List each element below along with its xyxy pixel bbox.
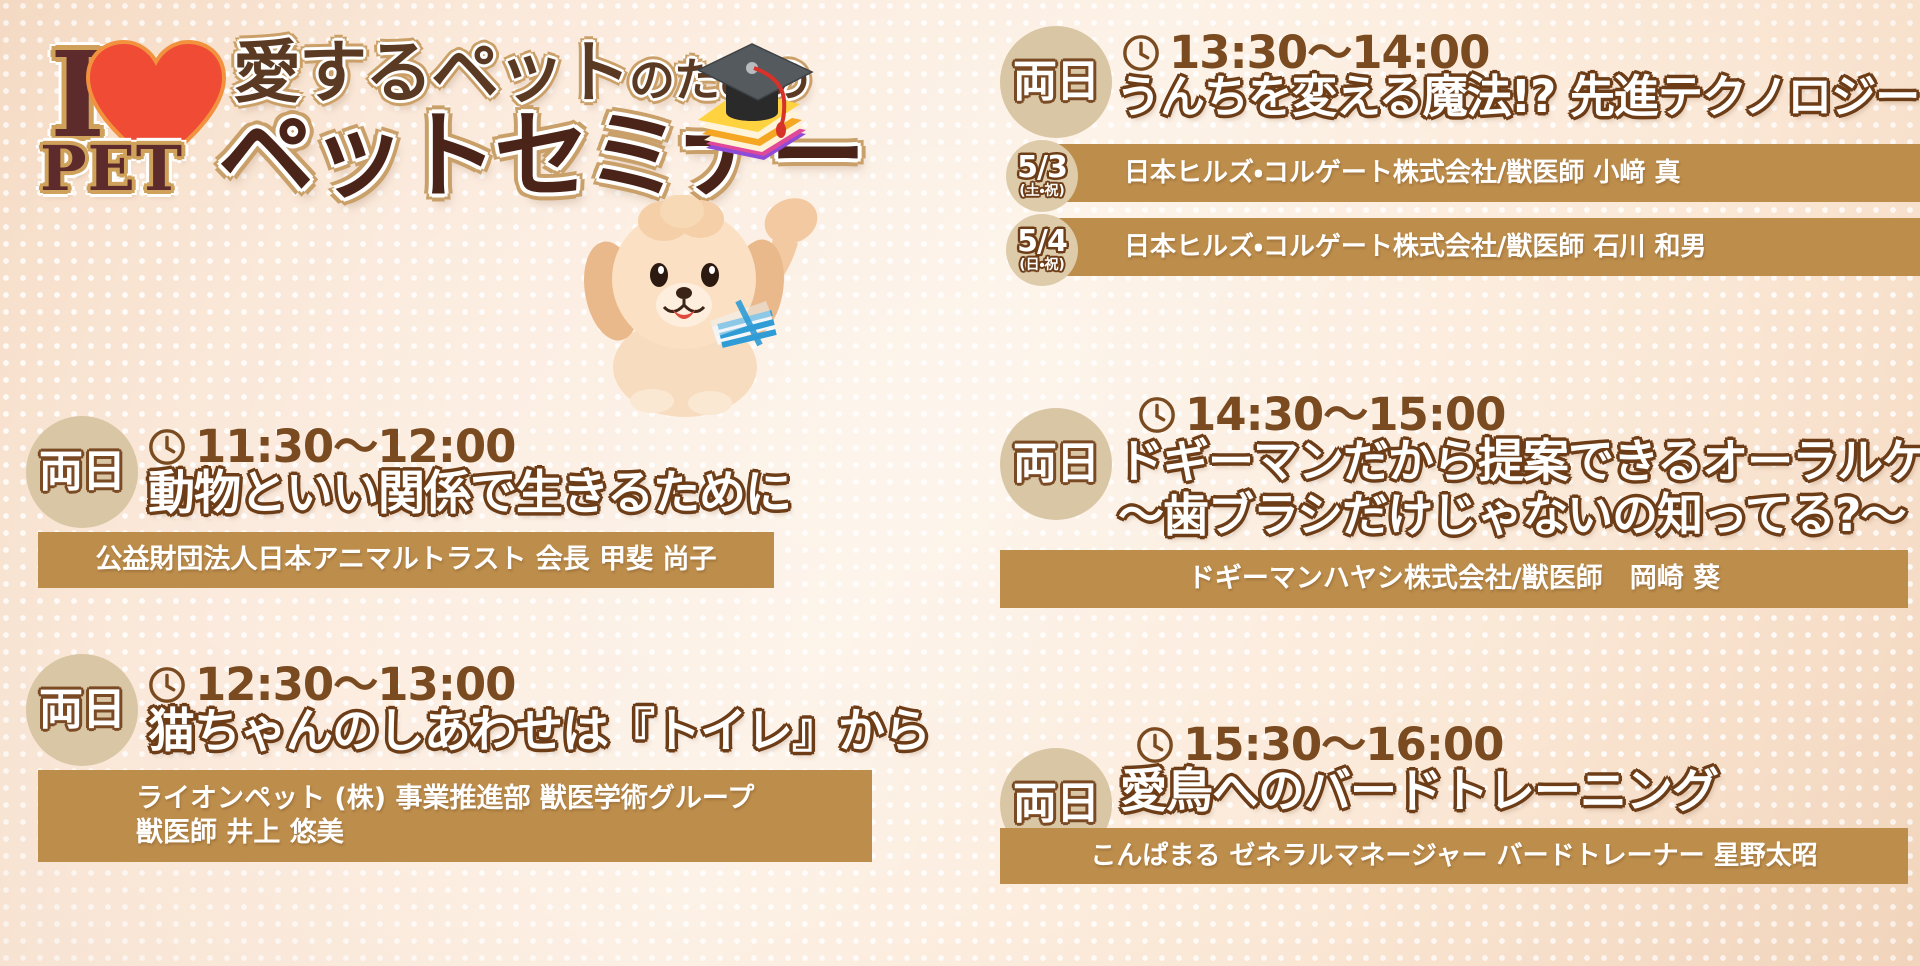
- seminar-title: 愛鳥へのバードトレーニング: [1120, 766, 1718, 819]
- date-badge-date: 5/3: [1017, 154, 1067, 183]
- time-row: 11:30〜12:00: [148, 424, 515, 469]
- day-badge: 両日: [1000, 26, 1112, 138]
- logo-pet-word: PET: [40, 138, 183, 200]
- time-row: 12:30〜13:00: [148, 662, 515, 707]
- date-badge-54: 5/4 (日・祝): [1006, 214, 1078, 286]
- seminar-time: 12:30〜13:00: [195, 662, 515, 707]
- clock-icon: [1122, 34, 1160, 72]
- clock-icon: [1138, 396, 1176, 434]
- time-row: 13:30〜14:00: [1122, 30, 1489, 75]
- day-badge-label: 両日: [39, 450, 125, 494]
- presenter-text: ライオンペット (株) 事業推進部 獣医学術グループ: [136, 782, 754, 816]
- seminar-time: 15:30〜16:00: [1183, 722, 1503, 767]
- date-badge-weekday: (日・祝): [1019, 258, 1065, 272]
- presenter-text: 日本ヒルズ・コルゲート株式会社/獣医師 石川 和男: [1124, 231, 1920, 264]
- day-badge: 両日: [26, 416, 138, 528]
- seminar-time: 13:30〜14:00: [1169, 30, 1489, 75]
- seminar-card-1230[interactable]: 両日 12:30〜13:00 猫ちゃんのしあわせは『トイレ』から ライオンペット…: [26, 650, 786, 810]
- presenter-bar: ドギーマンハヤシ株式会社/獣医師 岡崎 葵: [1000, 550, 1908, 608]
- clock-icon: [148, 428, 186, 466]
- time-row: 14:30〜15:00: [1138, 392, 1505, 437]
- seminar-title: 動物といい関係で生きるために: [148, 468, 791, 521]
- date-badge-53: 5/3 (土・祝): [1006, 140, 1078, 212]
- i-love-pet-logo: I PET: [30, 30, 235, 215]
- presenter-bar: ライオンペット (株) 事業推進部 獣医学術グループ 獣医師 井上 悠美: [38, 770, 872, 862]
- seminar-card-1430[interactable]: 両日 14:30〜15:00 ドギーマンだから提案できるオーラルケア 〜歯ブラシ…: [1000, 392, 1908, 612]
- clock-icon: [148, 666, 186, 704]
- graduation-cap-icon: [678, 30, 828, 180]
- seminar-card-1330[interactable]: 両日 13:30〜14:00 うんちを変える魔法!? 先進テクノロジーとは? 5…: [1000, 22, 1908, 302]
- presenter-bar: 公益財団法人日本アニマルトラスト 会長 甲斐 尚子: [38, 532, 774, 588]
- date-badge-date: 5/4: [1017, 228, 1067, 257]
- presenter-text: 日本ヒルズ・コルゲート株式会社/獣医師 小﨑 真: [1124, 157, 1920, 190]
- poster-background: I PET 愛するペットのための ペットセミナー: [0, 0, 1920, 966]
- date-badge-weekday: (土・祝): [1019, 184, 1065, 198]
- clock-icon: [1136, 726, 1174, 764]
- presenter-bar: 日本ヒルズ・コルゲート株式会社/獣医師 石川 和男: [1046, 218, 1920, 276]
- seminar-title-line-2: 〜歯ブラシだけじゃないの知ってる?〜: [1118, 490, 1905, 542]
- presenter-text: ドギーマンハヤシ株式会社/獣医師 岡崎 葵: [1000, 562, 1908, 596]
- day-badge-label: 両日: [1013, 442, 1099, 486]
- presenter-text: こんぱまる ゼネラルマネージャー バードトレーナー 星野太昭: [1000, 840, 1908, 873]
- seminar-time: 11:30〜12:00: [195, 424, 515, 469]
- day-badge-label: 両日: [39, 688, 125, 732]
- seminar-card-1530[interactable]: 両日 15:30〜16:00 愛鳥へのバードトレーニング こんぱまる ゼネラルマ…: [1000, 722, 1908, 882]
- seminar-title-line-1: ドギーマンだから提案できるオーラルケア: [1118, 436, 1920, 488]
- poster-title-block: I PET 愛するペットのための ペットセミナー: [18, 12, 818, 222]
- day-badge-label: 両日: [1013, 60, 1099, 104]
- seminar-card-1130[interactable]: 両日 11:30〜12:00 動物といい関係で生きるために 公益財団法人日本アニ…: [26, 412, 786, 542]
- presenter-bar: 日本ヒルズ・コルゲート株式会社/獣医師 小﨑 真: [1046, 144, 1920, 202]
- presenter-text: 公益財団法人日本アニマルトラスト 会長 甲斐 尚子: [38, 543, 774, 577]
- day-badge: 両日: [26, 654, 138, 766]
- presenter-bar: こんぱまる ゼネラルマネージャー バードトレーナー 星野太昭: [1000, 828, 1908, 884]
- day-badge: 両日: [1000, 408, 1112, 520]
- time-row: 15:30〜16:00: [1136, 722, 1503, 767]
- day-badge-label: 両日: [1013, 782, 1099, 826]
- seminar-title: うんちを変える魔法!? 先進テクノロジーとは?: [1116, 72, 1920, 122]
- seminar-title: 猫ちゃんのしあわせは『トイレ』から: [148, 706, 930, 759]
- puppy-illustration: [560, 195, 840, 425]
- seminar-time: 14:30〜15:00: [1185, 392, 1505, 437]
- presenter-text: 獣医師 井上 悠美: [136, 816, 344, 850]
